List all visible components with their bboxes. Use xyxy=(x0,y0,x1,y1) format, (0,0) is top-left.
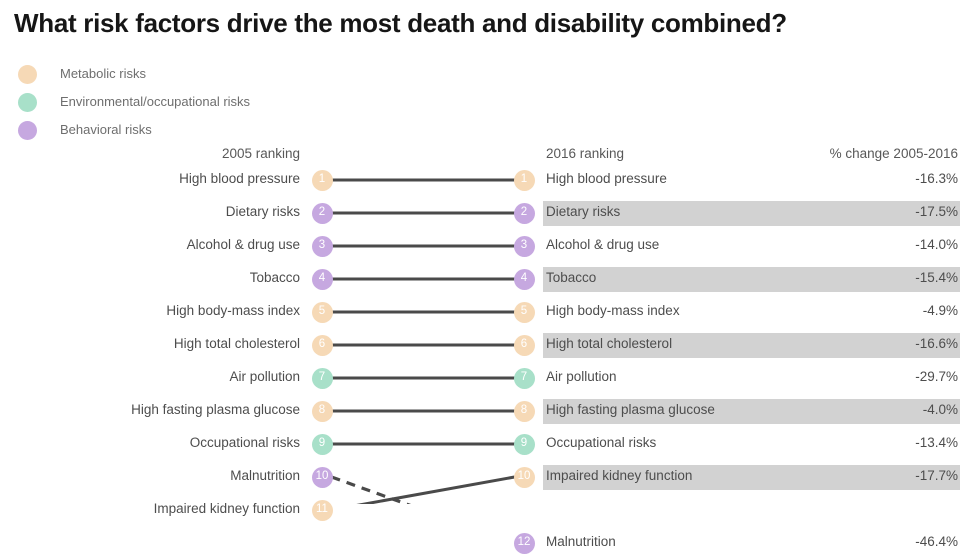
right-rank-node[interactable]: 4 xyxy=(514,269,535,290)
right-row-label: High total cholesterol xyxy=(546,336,672,351)
left-rank-node[interactable]: 6 xyxy=(312,335,333,356)
right-row-label: High body-mass index xyxy=(546,303,680,318)
left-row-label: Air pollution xyxy=(0,369,300,384)
left-rank-node[interactable]: 3 xyxy=(312,236,333,257)
pct-change-value: -46.4% xyxy=(700,534,958,549)
pct-change-value: -15.4% xyxy=(700,270,958,285)
left-rank-node[interactable]: 2 xyxy=(312,203,333,224)
right-row-label: Tobacco xyxy=(546,270,596,285)
right-rank-node[interactable]: 8 xyxy=(514,401,535,422)
left-rank-node[interactable]: 7 xyxy=(312,368,333,389)
pct-change-value: -16.3% xyxy=(700,171,958,186)
right-row-label: Alcohol & drug use xyxy=(546,237,659,252)
right-rank-node[interactable]: 9 xyxy=(514,434,535,455)
slope-chart: What risk factors drive the most death a… xyxy=(0,0,970,504)
slope-line xyxy=(332,477,515,504)
left-row-label: High total cholesterol xyxy=(0,336,300,351)
left-rank-node[interactable]: 9 xyxy=(312,434,333,455)
left-rank-node[interactable]: 4 xyxy=(312,269,333,290)
left-rank-node[interactable]: 8 xyxy=(312,401,333,422)
slope-lines xyxy=(0,0,970,504)
right-rank-node[interactable]: 5 xyxy=(514,302,535,323)
left-rank-node[interactable]: 5 xyxy=(312,302,333,323)
pct-change-value: -13.4% xyxy=(700,435,958,450)
left-row-label: Malnutrition xyxy=(0,468,300,483)
right-row-label: High fasting plasma glucose xyxy=(546,402,715,417)
left-row-label: Impaired kidney function xyxy=(0,501,300,516)
right-rank-node[interactable]: 7 xyxy=(514,368,535,389)
right-rank-node[interactable]: 6 xyxy=(514,335,535,356)
left-row-label: High body-mass index xyxy=(0,303,300,318)
right-row-label: Air pollution xyxy=(546,369,617,384)
right-row-label: Malnutrition xyxy=(546,534,616,549)
right-rank-node[interactable]: 3 xyxy=(514,236,535,257)
pct-change-value: -14.0% xyxy=(700,237,958,252)
left-row-label: Alcohol & drug use xyxy=(0,237,300,252)
left-rank-node[interactable]: 1 xyxy=(312,170,333,191)
left-rank-node[interactable]: 11 xyxy=(312,500,333,521)
right-rank-node[interactable]: 1 xyxy=(514,170,535,191)
right-row-label: Impaired kidney function xyxy=(546,468,692,483)
right-rank-node[interactable]: 10 xyxy=(514,467,535,488)
left-row-label: Dietary risks xyxy=(0,204,300,219)
left-row-label: High blood pressure xyxy=(0,171,300,186)
left-row-label: High fasting plasma glucose xyxy=(0,402,300,417)
right-row-label: Occupational risks xyxy=(546,435,656,450)
right-row-label: High blood pressure xyxy=(546,171,667,186)
right-row-label: Dietary risks xyxy=(546,204,620,219)
left-row-label: Occupational risks xyxy=(0,435,300,450)
pct-change-value: -4.0% xyxy=(700,402,958,417)
right-rank-node[interactable]: 12 xyxy=(514,533,535,554)
left-rank-node[interactable]: 10 xyxy=(312,467,333,488)
pct-change-value: -4.9% xyxy=(700,303,958,318)
right-rank-node[interactable]: 2 xyxy=(514,203,535,224)
pct-change-value: -17.7% xyxy=(700,468,958,483)
left-row-label: Tobacco xyxy=(0,270,300,285)
pct-change-value: -29.7% xyxy=(700,369,958,384)
pct-change-value: -16.6% xyxy=(700,336,958,351)
pct-change-value: -17.5% xyxy=(700,204,958,219)
